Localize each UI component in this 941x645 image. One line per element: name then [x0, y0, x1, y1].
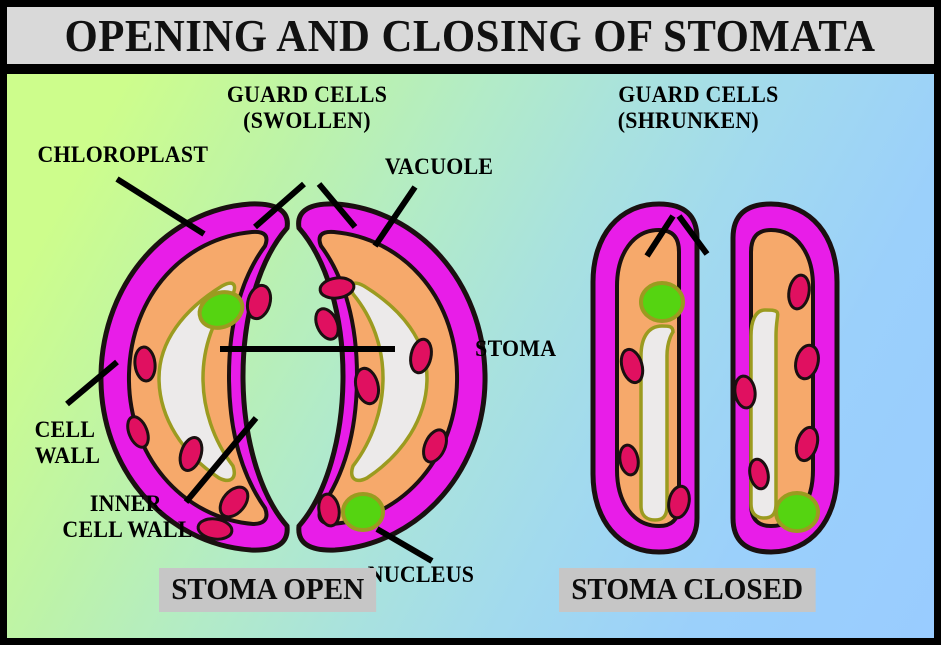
closed-nucleus-right — [776, 493, 818, 531]
label-guard-cells-shrunken-line2: (SHRUNKEN) — [618, 108, 759, 133]
label-nucleus: NUCLEUS — [368, 562, 474, 587]
closed-vacuole-left — [641, 326, 673, 520]
closed-guard-cell-right — [733, 204, 837, 552]
closed-nucleus-left — [641, 283, 683, 321]
label-inner-cell-wall-line2: CELL WALL — [62, 517, 192, 542]
title-band: OPENING AND CLOSING OF STOMATA — [7, 7, 934, 69]
closed-stoma-group — [593, 204, 837, 552]
label-guard-cells-shrunken-line1: GUARD CELLS — [618, 82, 778, 107]
caption-stoma-open: STOMA OPEN — [159, 568, 376, 612]
label-inner-cell-wall-line1: INNER — [90, 491, 162, 516]
label-cell-wall-line2: WALL — [35, 443, 101, 468]
open-guard-cell-right — [299, 204, 485, 550]
nucleus-right — [343, 494, 383, 530]
closed-guard-cell-left — [593, 204, 697, 552]
diagram-page: OPENING AND CLOSING OF STOMATA — [0, 0, 941, 645]
label-vacuole: VACUOLE — [385, 154, 493, 179]
label-chloroplast: CHLOROPLAST — [37, 142, 208, 167]
label-guard-cells-swollen-line1: GUARD CELLS — [203, 82, 412, 107]
label-guard-cells-swollen-line2: (SWOLLEN) — [203, 108, 412, 133]
leader-nucleus — [377, 529, 432, 561]
caption-stoma-closed: STOMA CLOSED — [559, 568, 815, 612]
label-stoma: STOMA — [475, 336, 556, 361]
leader-chloroplast — [117, 179, 204, 234]
page-title: OPENING AND CLOSING OF STOMATA — [65, 13, 876, 59]
label-cell-wall-line1: CELL — [35, 417, 96, 442]
diagram-canvas: CHLOROPLAST GUARD CELLS (SWOLLEN) VACUOL… — [7, 74, 934, 638]
